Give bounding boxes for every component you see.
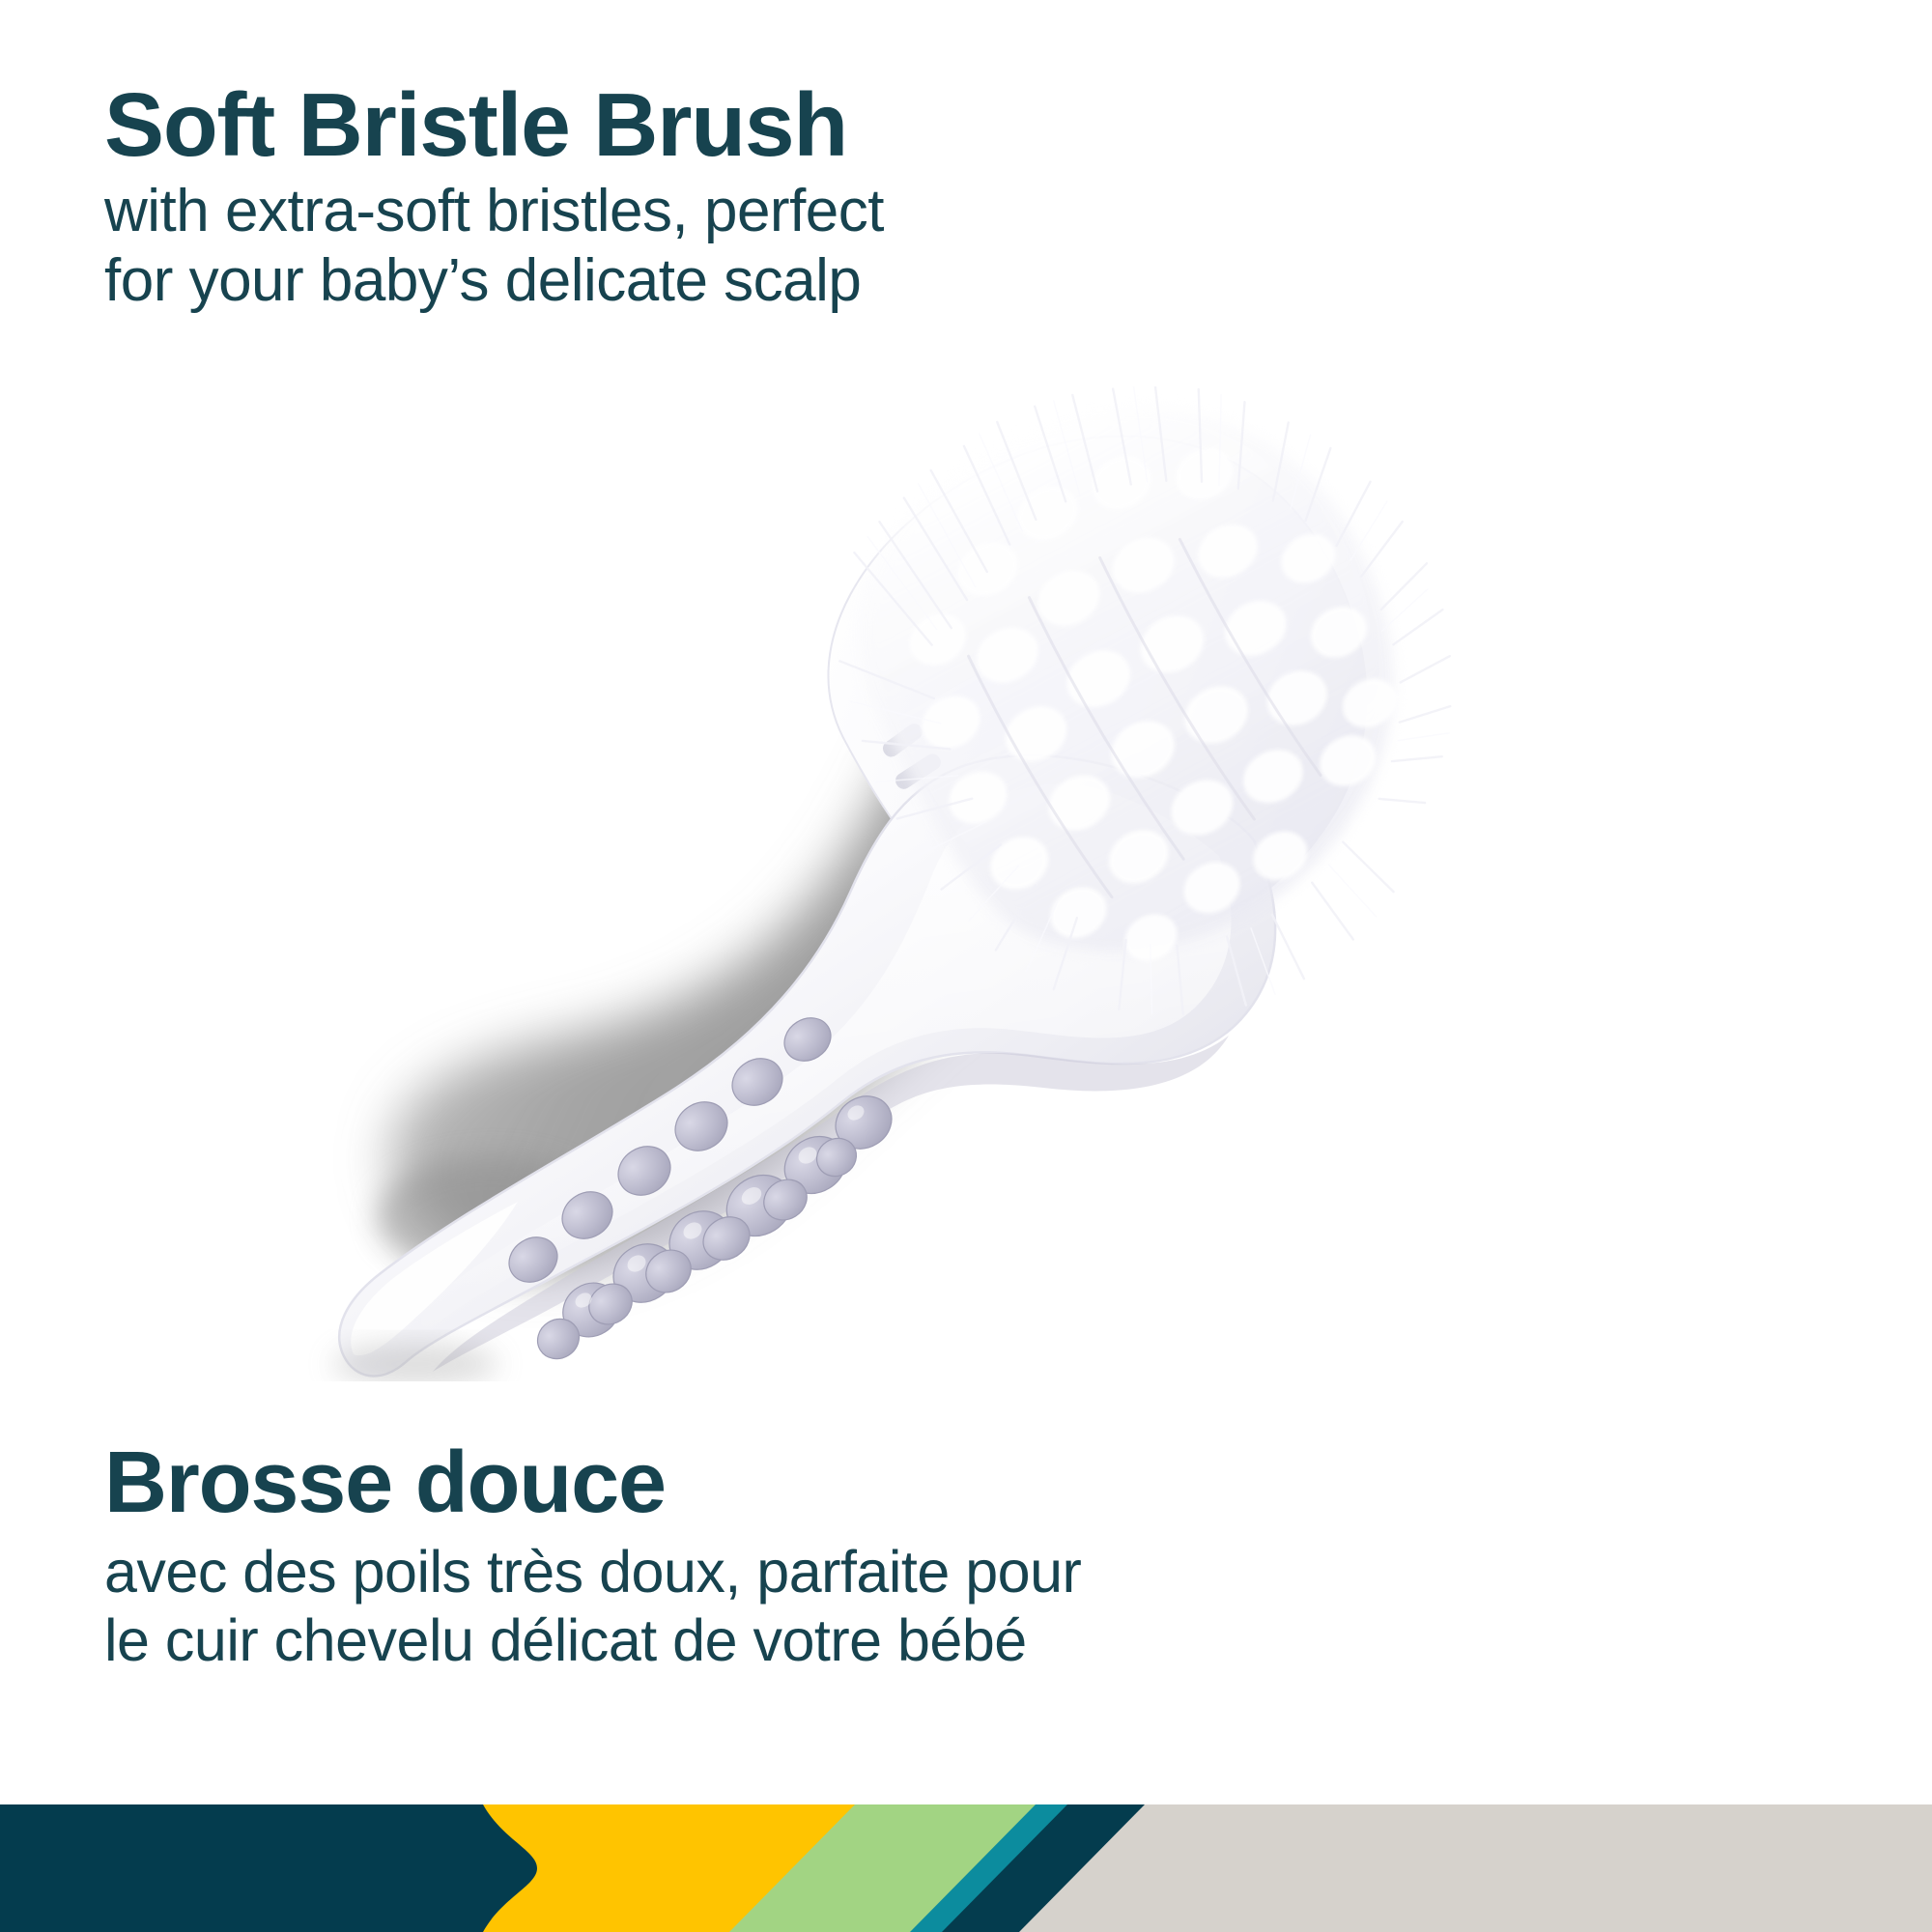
page-title-en: Soft Bristle Brush: [104, 79, 1360, 171]
french-copy-block: Brosse douce avec des poils très doux, p…: [104, 1439, 1553, 1674]
subtitle-fr-line-2: le cuir chevelu délicat de votre bébé: [104, 1606, 1553, 1675]
page-title-fr: Brosse douce: [104, 1439, 1553, 1528]
brand-stripe-dark-teal-chevron: [0, 1804, 537, 1932]
subtitle-en-line-2: for your baby’s delicate scalp: [104, 246, 1360, 316]
product-image: [174, 386, 1777, 1381]
subtitle-fr-line-1: avec des poils très doux, parfaite pour: [104, 1538, 1553, 1606]
subtitle-fr: avec des poils très doux, parfaite pour …: [104, 1538, 1553, 1675]
brand-accent-bar: [0, 1804, 1932, 1932]
brush-photo: [174, 386, 1777, 1381]
product-marketing-image: Soft Bristle Brush with extra-soft brist…: [0, 0, 1932, 1932]
subtitle-en-line-1: with extra-soft bristles, perfect: [104, 177, 1360, 246]
subtitle-en: with extra-soft bristles, perfect for yo…: [104, 177, 1360, 316]
english-copy-block: Soft Bristle Brush with extra-soft brist…: [104, 79, 1360, 316]
